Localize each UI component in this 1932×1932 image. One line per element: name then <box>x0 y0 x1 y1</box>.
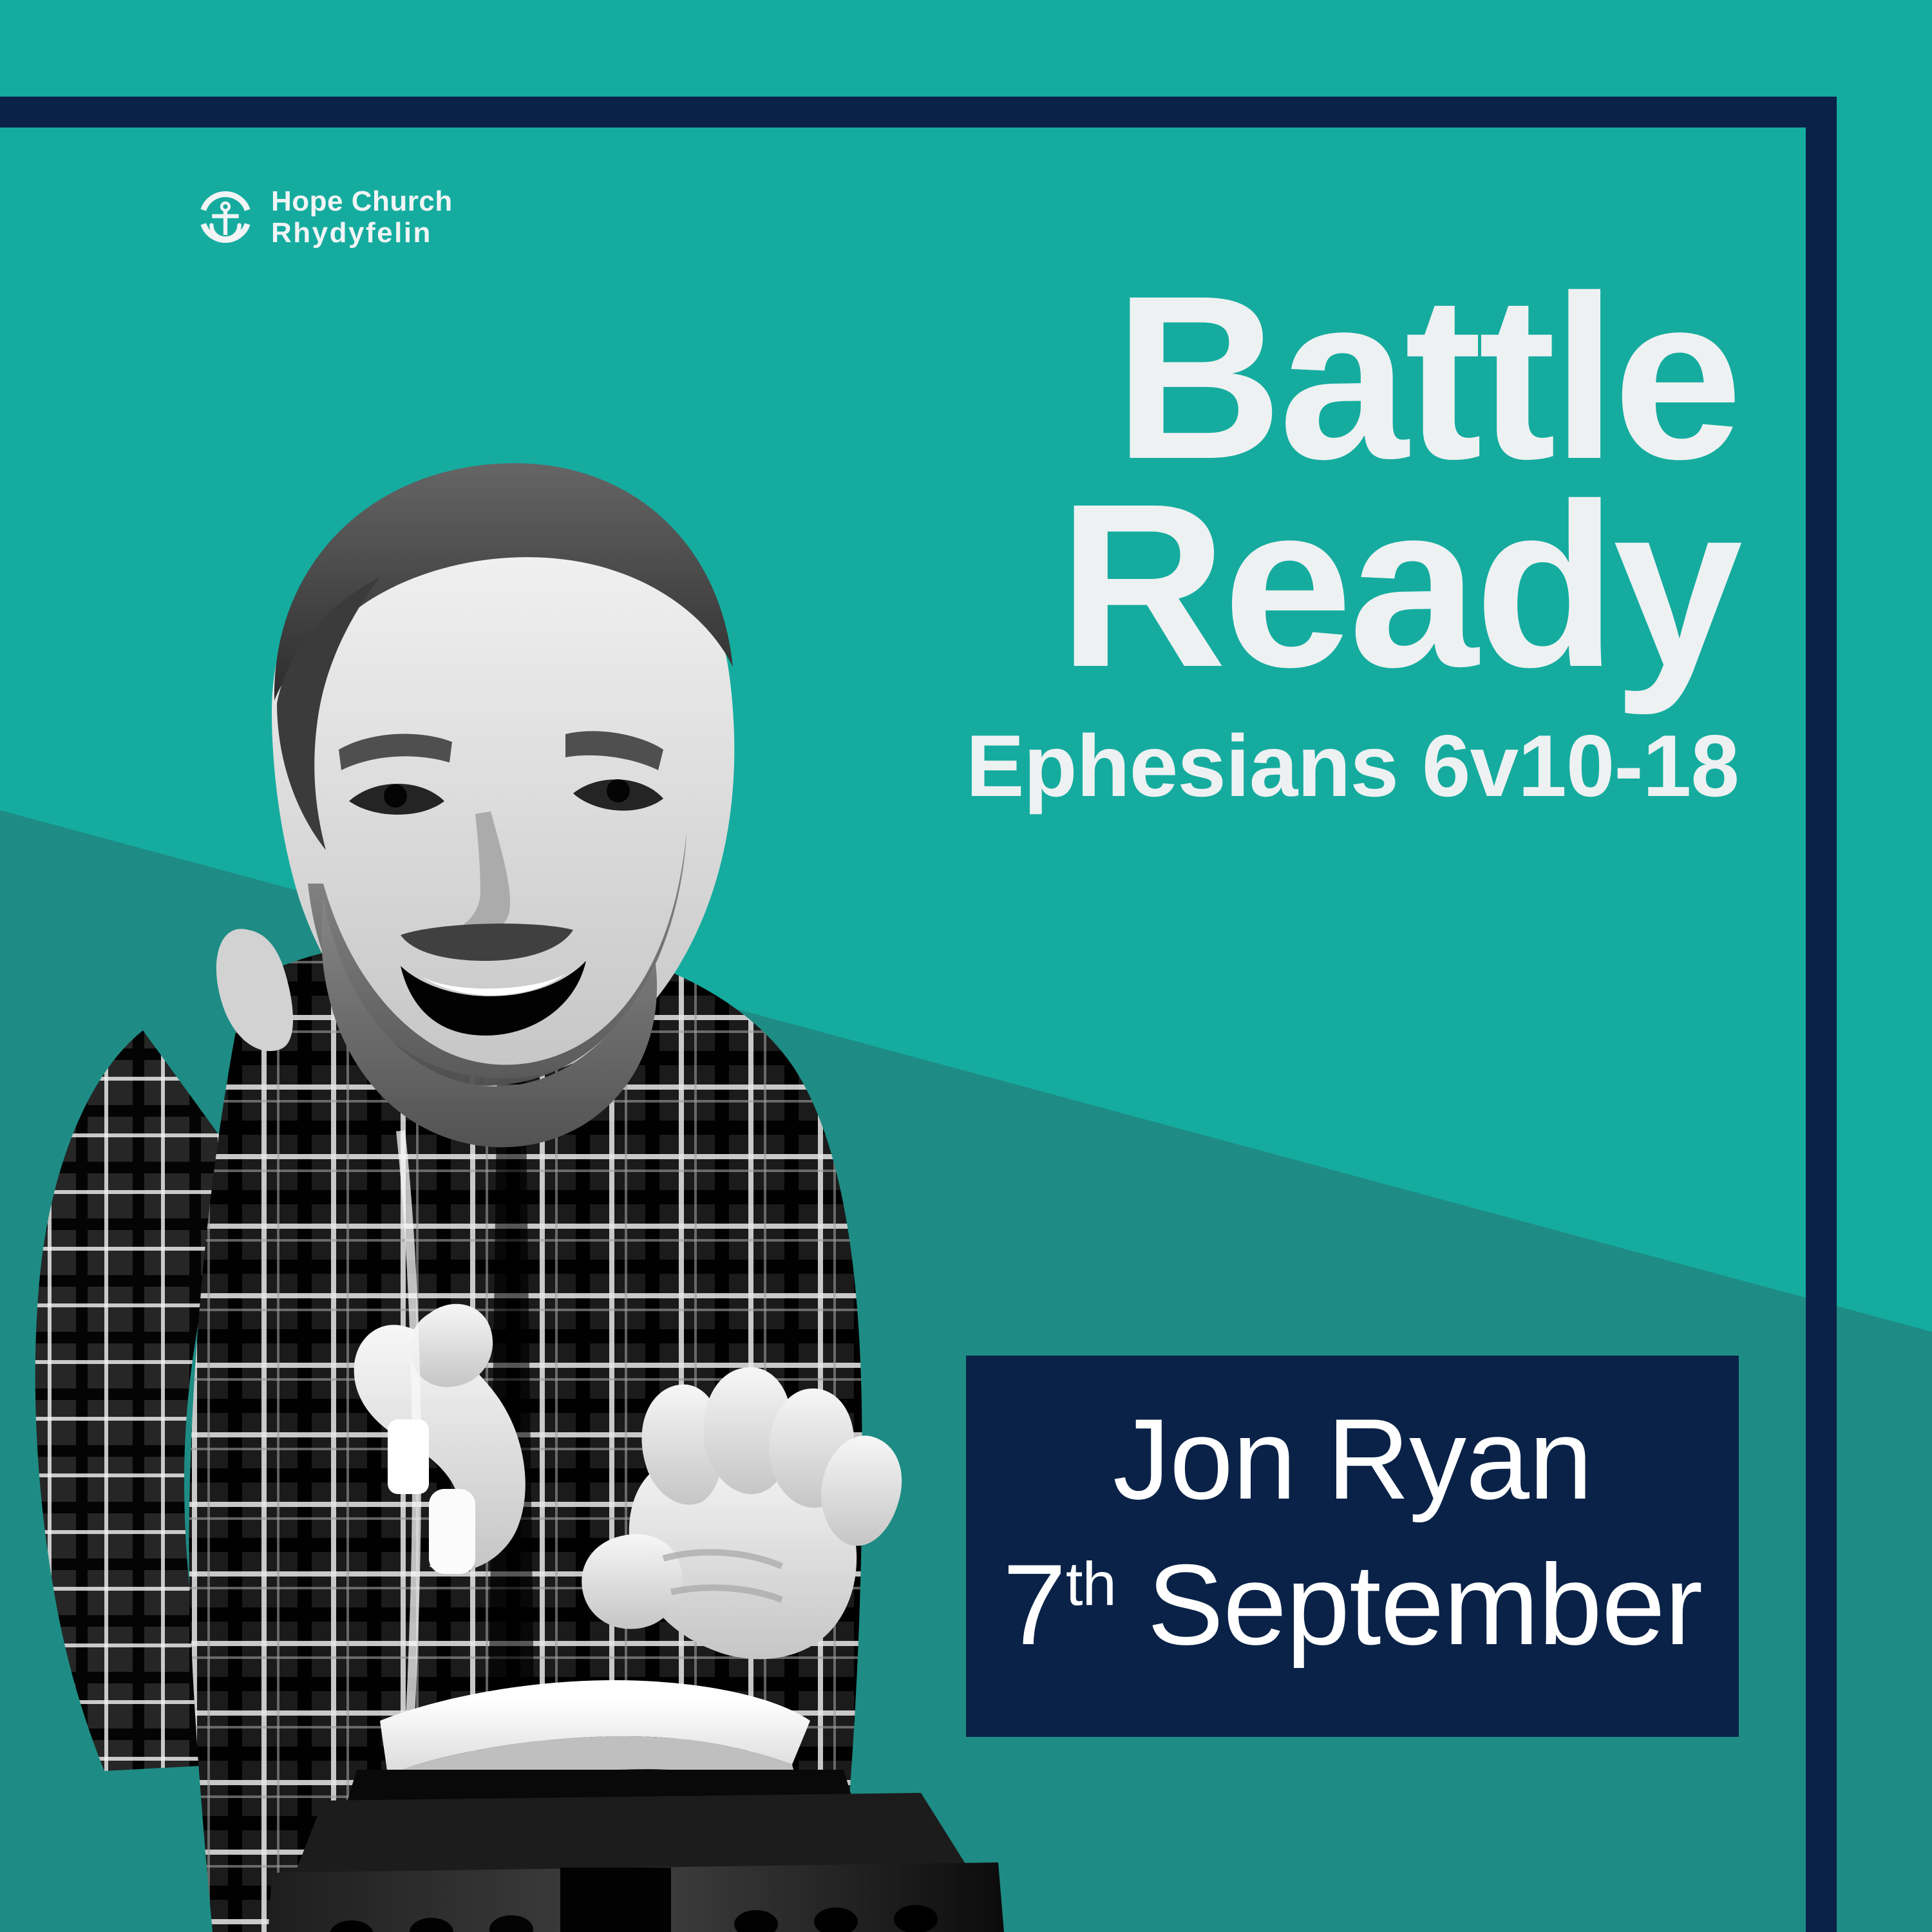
speaker-name: Jon Ryan <box>966 1402 1739 1517</box>
logo-line-1: Hope Church <box>271 185 453 217</box>
logo: Hope Church Rhydyfelin <box>196 185 453 249</box>
title-line-1: Battle <box>193 277 1739 477</box>
logo-line-2: Rhydyfelin <box>271 217 453 249</box>
frame-line-top <box>0 97 1837 128</box>
scripture-reference: Ephesians 6v10-18 <box>193 715 1739 816</box>
frame-line-right <box>1806 97 1837 1932</box>
title-line-2: Ready <box>193 485 1739 685</box>
logo-wordmark: Hope Church Rhydyfelin <box>271 185 453 249</box>
sermon-date: 7th September <box>966 1548 1739 1662</box>
sermon-title-block: Battle Ready Ephesians 6v10-18 <box>193 277 1739 816</box>
date-ordinal-suffix: th <box>1066 1550 1116 1619</box>
sermon-graphic-canvas: Hope Church Rhydyfelin Battle Ready Ephe… <box>0 0 1932 1932</box>
anchor-in-circle-icon <box>196 188 254 246</box>
date-month: September <box>1147 1540 1702 1669</box>
date-day: 7 <box>1003 1540 1066 1669</box>
speaker-date-card: Jon Ryan 7th September <box>966 1356 1739 1737</box>
